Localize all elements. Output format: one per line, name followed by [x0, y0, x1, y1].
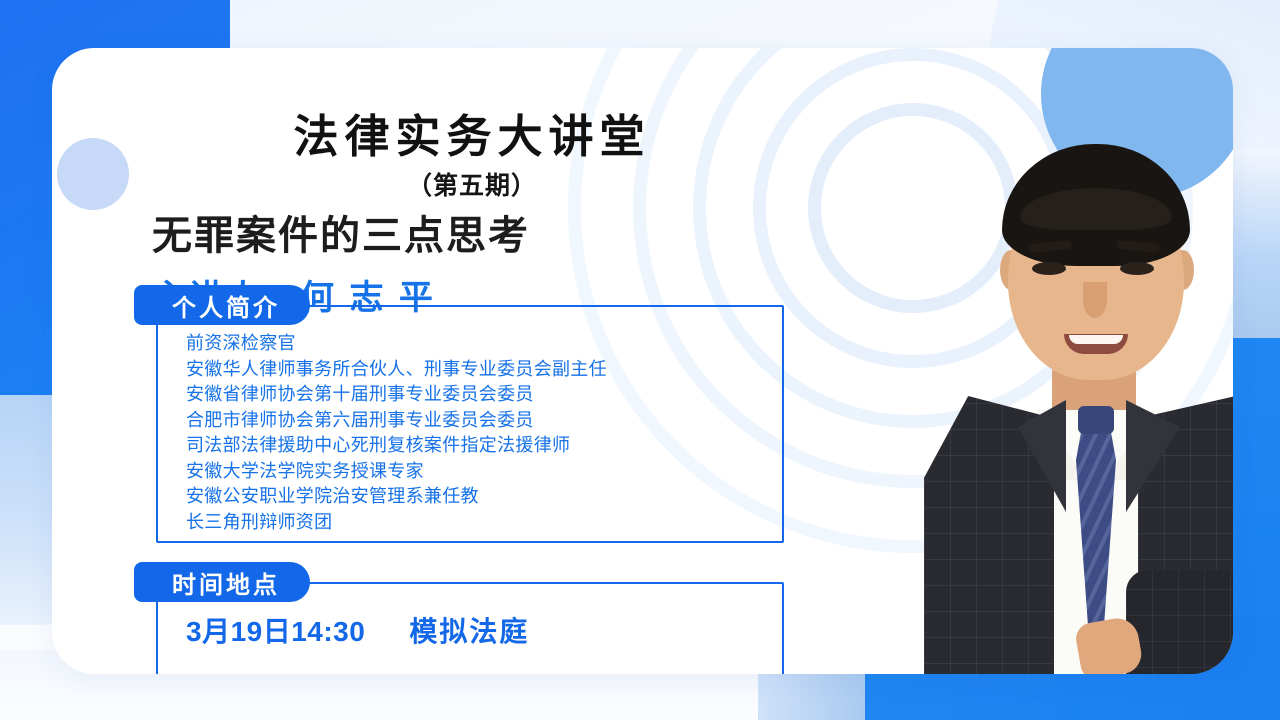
portrait-necktie-knot	[1078, 406, 1114, 434]
list-item: 前资深检察官	[186, 331, 746, 357]
portrait-lapel-right	[1126, 400, 1180, 512]
poster-canvas: 法律实务大讲堂 （第五期） 无罪案件的三点思考 主讲人：何 志 平 个人简介 前…	[0, 0, 1280, 720]
list-item: 长三角刑辩师资团	[186, 510, 746, 536]
portrait-right-sleeve	[1126, 570, 1233, 674]
portrait-ear-left	[1000, 250, 1022, 290]
time-place-row: 3月19日14:30 模拟法庭	[186, 610, 529, 650]
list-item: 安徽公安职业学院治安管理系兼任教	[186, 484, 746, 510]
list-item: 司法部法律援助中心死刑复核案件指定法援律师	[186, 433, 746, 459]
event-location: 模拟法庭	[409, 610, 529, 650]
portrait-mouth	[1064, 334, 1128, 354]
portrait-collar-left	[1038, 408, 1086, 480]
page-subtitle: （第五期）	[52, 166, 892, 202]
portrait-shirt	[1012, 410, 1182, 674]
portrait-eyebrow-left	[1028, 240, 1073, 254]
time-place-badge: 时间地点	[134, 562, 310, 602]
portrait-neck	[1052, 350, 1136, 440]
list-item: 安徽华人律师事务所合伙人、刑事专业委员会副主任	[186, 357, 746, 383]
portrait-necktie	[1076, 420, 1116, 670]
biography-badge: 个人简介	[134, 285, 310, 325]
event-datetime: 3月19日14:30	[186, 610, 365, 650]
blue-circle-top-right	[1041, 48, 1233, 198]
portrait-left-arm	[924, 570, 1028, 674]
list-item: 合肥市律师协会第六届刑事专业委员会委员	[186, 408, 746, 434]
arc-ring-2	[753, 48, 1073, 368]
portrait-nose	[1083, 282, 1107, 318]
page-title: 法律实务大讲堂	[52, 100, 892, 165]
portrait-eye-right	[1120, 262, 1154, 275]
list-item: 安徽大学法学院实务授课专家	[186, 459, 746, 485]
portrait-lapel-left	[1018, 400, 1066, 512]
biography-list: 前资深检察官 安徽华人律师事务所合伙人、刑事专业委员会副主任 安徽省律师协会第十…	[186, 331, 746, 535]
content-card: 法律实务大讲堂 （第五期） 无罪案件的三点思考 主讲人：何 志 平 个人简介 前…	[52, 48, 1233, 674]
portrait-ear-right	[1172, 250, 1194, 290]
lecture-topic: 无罪案件的三点思考	[152, 203, 530, 261]
portrait-suit-left	[924, 396, 1054, 674]
portrait-collar-right	[1106, 408, 1154, 480]
portrait-eyebrow-right	[1116, 240, 1161, 253]
portrait-eye-left	[1032, 262, 1066, 275]
list-item: 安徽省律师协会第十届刑事专业委员会委员	[186, 382, 746, 408]
portrait-right-hand	[1074, 615, 1145, 674]
portrait-suit-right	[1138, 396, 1233, 674]
